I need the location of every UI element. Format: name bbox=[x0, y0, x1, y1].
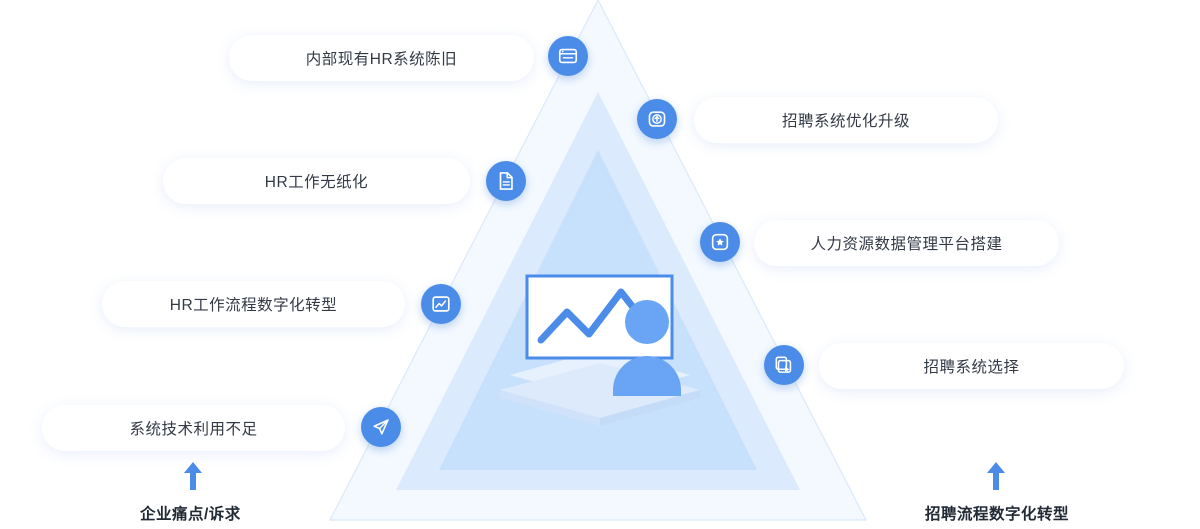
image-chart-icon[interactable] bbox=[421, 284, 461, 324]
pain-point-pill-1[interactable]: 内部现有HR系统陈旧 bbox=[229, 35, 534, 81]
pain-point-pill-4[interactable]: 系统技术利用不足 bbox=[42, 405, 345, 451]
goal-label-2: 人力资源数据管理平台搭建 bbox=[810, 232, 1002, 254]
pain-point-pill-3[interactable]: HR工作流程数字化转型 bbox=[102, 281, 405, 327]
pain-point-label-2: HR工作无纸化 bbox=[265, 170, 368, 192]
diagram-canvas: 内部现有HR系统陈旧 HR工作无纸化 HR工作流程数字化转型 系统技术利用不足 bbox=[0, 0, 1200, 529]
upload-circle-icon[interactable] bbox=[637, 99, 677, 139]
goal-label-1: 招聘系统优化升级 bbox=[782, 109, 910, 131]
pain-point-pill-2[interactable]: HR工作无纸化 bbox=[163, 158, 470, 204]
goal-pill-3[interactable]: 招聘系统选择 bbox=[819, 343, 1124, 389]
star-shield-icon[interactable] bbox=[700, 222, 740, 262]
copy-cursor-icon[interactable] bbox=[764, 345, 804, 385]
arrow-up-icon-left bbox=[183, 462, 203, 495]
goal-label-3: 招聘系统选择 bbox=[923, 355, 1019, 377]
pain-point-label-3: HR工作流程数字化转型 bbox=[170, 293, 337, 315]
footer-label-left: 企业痛点/诉求 bbox=[140, 502, 241, 524]
send-paper-plane-icon[interactable] bbox=[361, 407, 401, 447]
footer-label-right: 招聘流程数字化转型 bbox=[925, 502, 1069, 524]
goal-pill-2[interactable]: 人力资源数据管理平台搭建 bbox=[754, 220, 1059, 266]
goal-pill-1[interactable]: 招聘系统优化升级 bbox=[694, 97, 998, 143]
document-icon[interactable] bbox=[486, 161, 526, 201]
window-icon[interactable] bbox=[548, 36, 588, 76]
pain-point-label-1: 内部现有HR系统陈旧 bbox=[306, 47, 457, 69]
arrow-up-icon-right bbox=[986, 462, 1006, 495]
pain-point-label-4: 系统技术利用不足 bbox=[129, 417, 257, 439]
